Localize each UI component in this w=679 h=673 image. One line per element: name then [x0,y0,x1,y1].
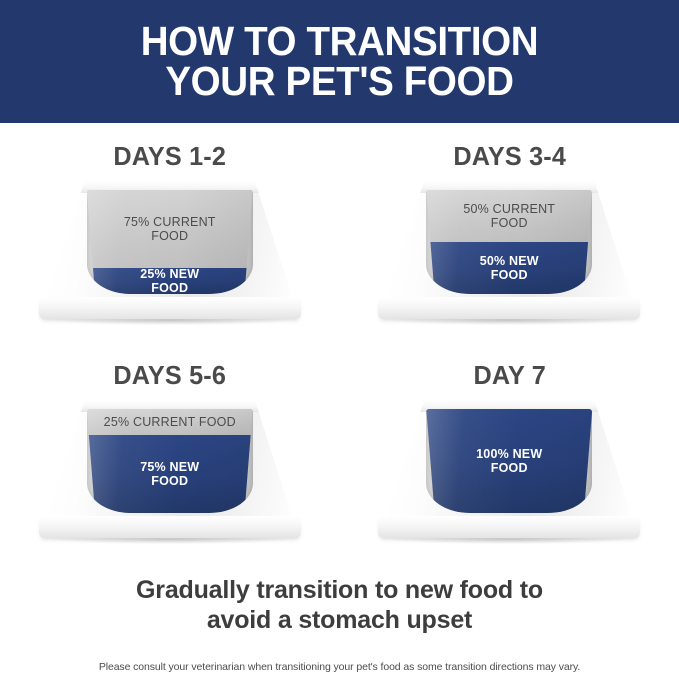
current-food-label: 25% CURRENT FOOD [87,415,253,429]
current-food-label: 75% CURRENT FOOD [87,215,253,244]
header-banner: HOW TO TRANSITION YOUR PET'S FOOD [0,0,679,123]
pet-food-bowl-icon: 75% CURRENT FOOD 25% NEW FOOD [45,181,295,323]
bowl-base-plate [378,516,640,538]
transition-step-card: DAYS 5-6 25% CURRENT FOOD 75% NEW FOOD [0,342,340,561]
pet-food-bowl-icon: 25% CURRENT FOOD 75% NEW FOOD [45,400,295,542]
footer: Gradually transition to new food to avoi… [0,561,679,673]
step-title: DAY 7 [345,342,674,391]
pet-food-bowl-icon: 50% CURRENT FOOD 50% NEW FOOD [384,181,634,323]
bowl-base-plate [39,516,301,538]
pet-food-bowl-icon: 100% NEW FOOD [384,400,634,542]
bowl-cavity: 50% CURRENT FOOD 50% NEW FOOD [426,190,592,294]
transition-step-card: DAY 7 100% NEW FOOD [340,342,679,561]
transition-step-card: DAYS 1-2 75% CURRENT FOOD 25% NEW FOOD [0,123,340,342]
bowl-cavity: 75% CURRENT FOOD 25% NEW FOOD [87,190,253,294]
transition-step-card: DAYS 3-4 50% CURRENT FOOD 50% NEW FOOD [340,123,679,342]
current-food-label: 50% CURRENT FOOD [426,202,592,231]
bowl-cavity: 100% NEW FOOD [426,409,592,513]
new-food-label: 75% NEW FOOD [87,460,253,489]
step-title: DAYS 5-6 [5,342,334,391]
bowl-cavity: 25% CURRENT FOOD 75% NEW FOOD [87,409,253,513]
bowl-base-plate [39,297,301,319]
step-title: DAYS 3-4 [345,123,674,172]
footer-disclaimer: Please consult your veterinarian when tr… [0,635,679,673]
step-title: DAYS 1-2 [5,123,334,172]
new-food-label: 50% NEW FOOD [426,254,592,283]
new-food-label: 25% NEW FOOD [87,267,253,295]
footer-headline: Gradually transition to new food to avoi… [0,561,679,635]
transition-steps-grid: DAYS 1-2 75% CURRENT FOOD 25% NEW FOOD D… [0,123,679,561]
new-food-label: 100% NEW FOOD [426,447,592,476]
bowl-base-plate [378,297,640,319]
page-title: HOW TO TRANSITION YOUR PET'S FOOD [122,22,557,101]
